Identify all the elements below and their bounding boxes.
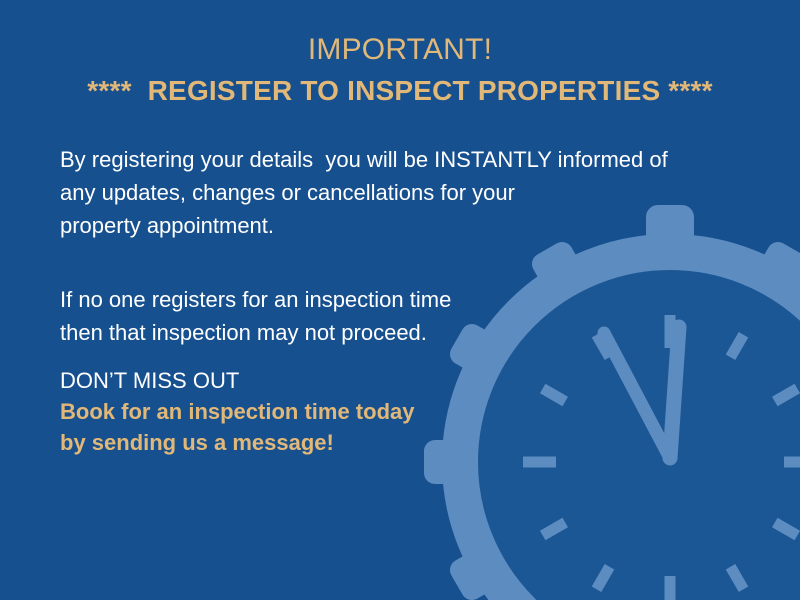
body-paragraph-registering: By registering your details you will be … (60, 143, 750, 242)
slide-canvas: IMPORTANT! **** REGISTER TO INSPECT PROP… (0, 0, 800, 600)
call-to-action-block: DON’T MISS OUT Book for an inspection ti… (60, 365, 620, 458)
body-paragraph-no-registration: If no one registers for an inspection ti… (60, 283, 750, 349)
cta-dont-miss-out: DON’T MISS OUT (60, 365, 620, 396)
headline-block: IMPORTANT! **** REGISTER TO INSPECT PROP… (0, 30, 800, 112)
cta-book-inspection: Book for an inspection time today (60, 396, 620, 427)
headline-important: IMPORTANT! (0, 30, 800, 70)
body-block: By registering your details you will be … (60, 143, 750, 349)
text-layer: IMPORTANT! **** REGISTER TO INSPECT PROP… (0, 0, 800, 600)
headline-register-to-inspect: **** REGISTER TO INSPECT PROPERTIES **** (0, 70, 800, 112)
cta-send-message: by sending us a message! (60, 427, 620, 458)
